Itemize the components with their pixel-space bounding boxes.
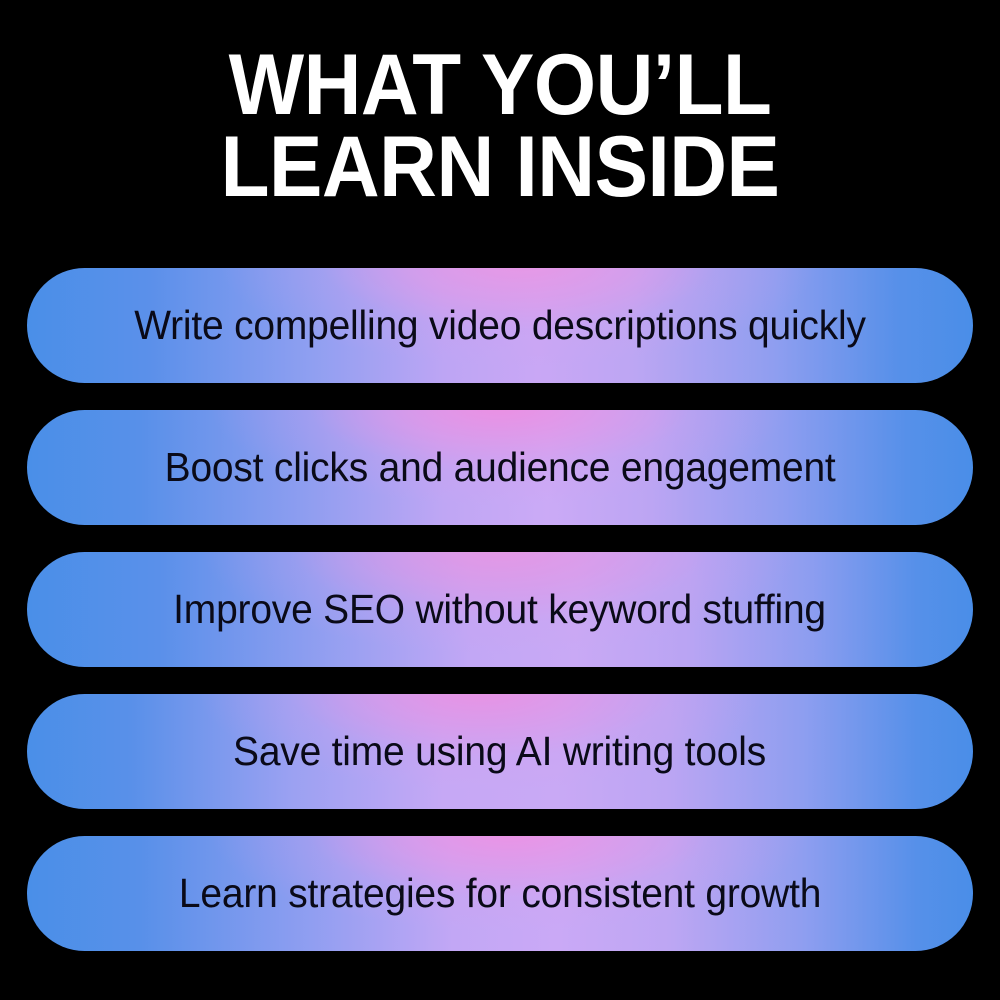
benefit-pill-2[interactable]: Boost clicks and audience engagement — [27, 410, 973, 525]
benefit-pill-5[interactable]: Learn strategies for consistent growth — [27, 836, 973, 951]
benefit-pill-4[interactable]: Save time using AI writing tools — [27, 694, 973, 809]
benefit-pill-label: Improve SEO without keyword stuffing — [27, 552, 973, 667]
benefit-pill-label: Write compelling video descriptions quic… — [27, 268, 973, 383]
benefit-pill-3-text: Improve SEO without keyword stuffing — [174, 586, 827, 633]
benefit-pill-4-text: Save time using AI writing tools — [233, 728, 766, 775]
benefit-pill-label: Boost clicks and audience engagement — [27, 410, 973, 525]
benefit-pill-label: Save time using AI writing tools — [27, 694, 973, 809]
benefit-pill-2-text: Boost clicks and audience engagement — [165, 444, 836, 491]
slide-canvas: WHAT YOU’LL LEARN INSIDE Write compellin… — [0, 0, 1000, 1000]
page-title: WHAT YOU’LL LEARN INSIDE — [0, 44, 1000, 208]
benefit-pill-1-text: Write compelling video descriptions quic… — [134, 302, 865, 349]
benefit-pill-5-text: Learn strategies for consistent growth — [179, 870, 821, 917]
page-title-line-1: WHAT YOU’LL — [35, 44, 965, 126]
benefit-pill-list: Write compelling video descriptions quic… — [27, 268, 973, 951]
page-title-line-2: LEARN INSIDE — [35, 126, 965, 208]
benefit-pill-3[interactable]: Improve SEO without keyword stuffing — [27, 552, 973, 667]
benefit-pill-1[interactable]: Write compelling video descriptions quic… — [27, 268, 973, 383]
benefit-pill-label: Learn strategies for consistent growth — [27, 836, 973, 951]
